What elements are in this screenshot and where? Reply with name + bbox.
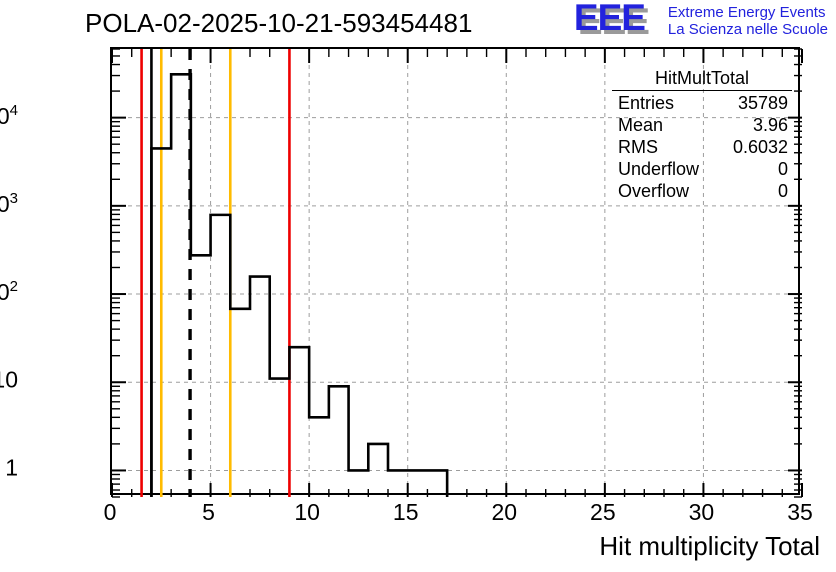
y-tick-label: 104 (0, 102, 18, 130)
stats-row: RMS0.6032 (612, 137, 792, 159)
stats-box-title: HitMultTotal (612, 68, 792, 91)
stats-row-value: 0 (778, 159, 792, 181)
histogram-canvas: POLA-02-2025-10-21-593454481 EEE EEE Ext… (0, 0, 836, 572)
stats-row-key: RMS (612, 137, 658, 159)
eee-logo-front-text: EEE (574, 0, 645, 36)
y-tick-label: 10 (0, 367, 18, 394)
x-tick-label: 35 (787, 499, 813, 526)
eee-logo-mark: EEE EEE (574, 4, 662, 36)
x-axis-title: Hit multiplicity Total (599, 531, 820, 562)
stats-box: HitMultTotal Entries35789Mean3.96RMS0.60… (612, 68, 792, 203)
y-tick-label: 1 (5, 455, 18, 482)
stats-row-key: Mean (612, 115, 663, 137)
stats-row-key: Underflow (612, 159, 699, 181)
stats-row-key: Entries (612, 93, 674, 115)
stats-row: Entries35789 (612, 93, 792, 115)
x-tick-label: 15 (393, 499, 419, 526)
x-tick-label: 0 (104, 499, 117, 526)
x-tick-label: 5 (202, 499, 215, 526)
stats-row-key: Overflow (612, 181, 689, 203)
stats-row: Mean3.96 (612, 115, 792, 137)
stats-row: Overflow0 (612, 181, 792, 203)
x-tick-label: 30 (689, 499, 715, 526)
eee-logo-line2: La Scienza nelle Scuole (668, 22, 828, 39)
x-tick-label: 25 (590, 499, 616, 526)
stats-row-value: 0.6032 (733, 137, 792, 159)
eee-logo-line1: Extreme Energy Events (668, 5, 828, 22)
x-tick-label: 10 (294, 499, 320, 526)
eee-logo-wordmark: Extreme Energy Events La Scienza nelle S… (668, 4, 828, 39)
stats-row-value: 3.96 (753, 115, 792, 137)
x-tick-label: 20 (491, 499, 517, 526)
stats-row-value: 35789 (738, 93, 792, 115)
eee-logo: EEE EEE Extreme Energy Events La Scienza… (574, 4, 828, 38)
page-title: POLA-02-2025-10-21-593454481 (85, 8, 472, 39)
y-tick-label: 103 (0, 190, 18, 218)
stats-row-value: 0 (778, 181, 792, 203)
stats-row: Underflow0 (612, 159, 792, 181)
y-tick-label: 102 (0, 278, 18, 306)
